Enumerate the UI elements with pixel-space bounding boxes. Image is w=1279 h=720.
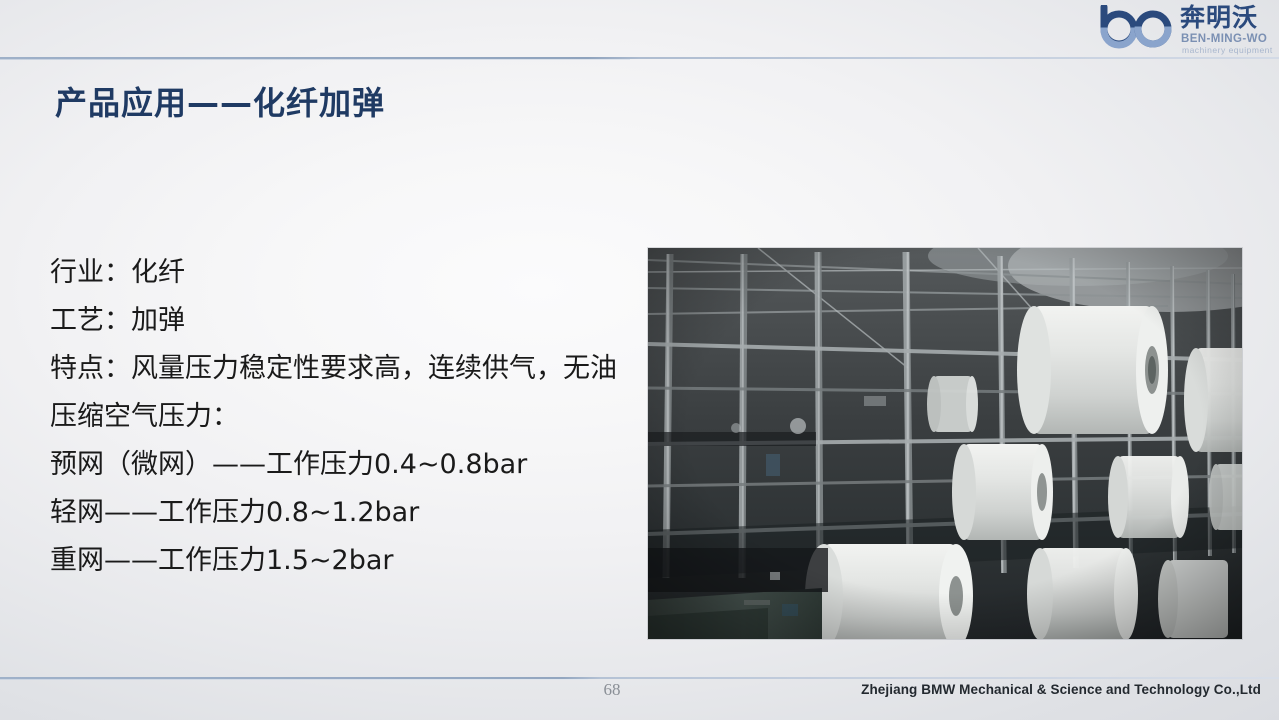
page-title: 产品应用——化纤加弹 [55,78,385,124]
content-line: 轻网——工作压力0.8~1.2bar [50,489,620,537]
logo-tagline: machinery equipment [1182,45,1273,55]
slide-canvas: 奔明沃 BEN-MING-WO machinery equipment 产品应用… [0,0,1279,720]
company-logo: 奔明沃 BEN-MING-WO machinery equipment [1098,3,1270,55]
factory-photo-image [648,248,1242,639]
content-text-block: 行业：化纤 工艺：加弹 特点：风量压力稳定性要求高，连续供气，无油 压缩空气压力… [50,249,620,585]
content-line: 预网（微网）——工作压力0.4~0.8bar [50,441,620,489]
page-number: 68 [592,680,632,700]
header-divider [0,57,1279,59]
company-footer-text: Zhejiang BMW Mechanical & Science and Te… [861,682,1261,697]
footer-divider [0,677,1279,679]
logo-english-name: BEN-MING-WO [1181,33,1267,45]
factory-photo [648,248,1242,639]
content-line: 工艺：加弹 [50,297,620,345]
bo-monogram-icon [1098,5,1176,51]
content-line: 特点：风量压力稳定性要求高，连续供气，无油 [50,345,620,393]
logo-chinese-name: 奔明沃 [1180,4,1258,32]
content-line: 行业：化纤 [50,249,620,297]
content-line: 压缩空气压力： [50,393,620,441]
content-line: 重网——工作压力1.5~2bar [50,537,620,585]
